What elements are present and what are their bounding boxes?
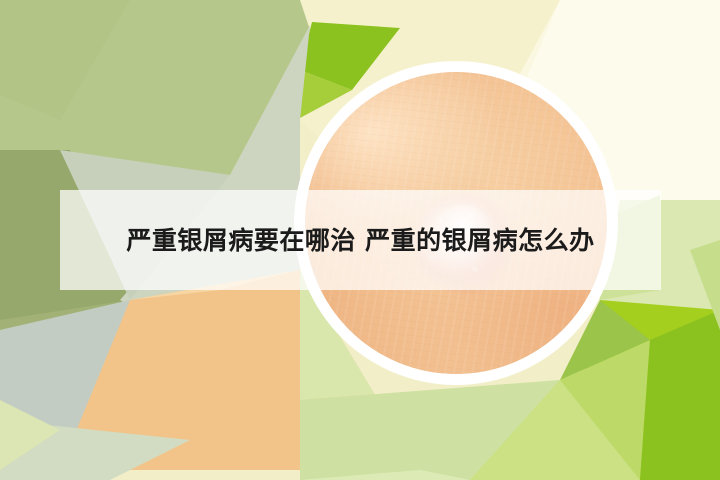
title-band: 严重银屑病要在哪治 严重的银屑病怎么办 — [60, 190, 661, 290]
page-title: 严重银屑病要在哪治 严重的银屑病怎么办 — [126, 228, 594, 253]
banner-image: 严重银屑病要在哪治 严重的银屑病怎么办 — [0, 0, 720, 480]
